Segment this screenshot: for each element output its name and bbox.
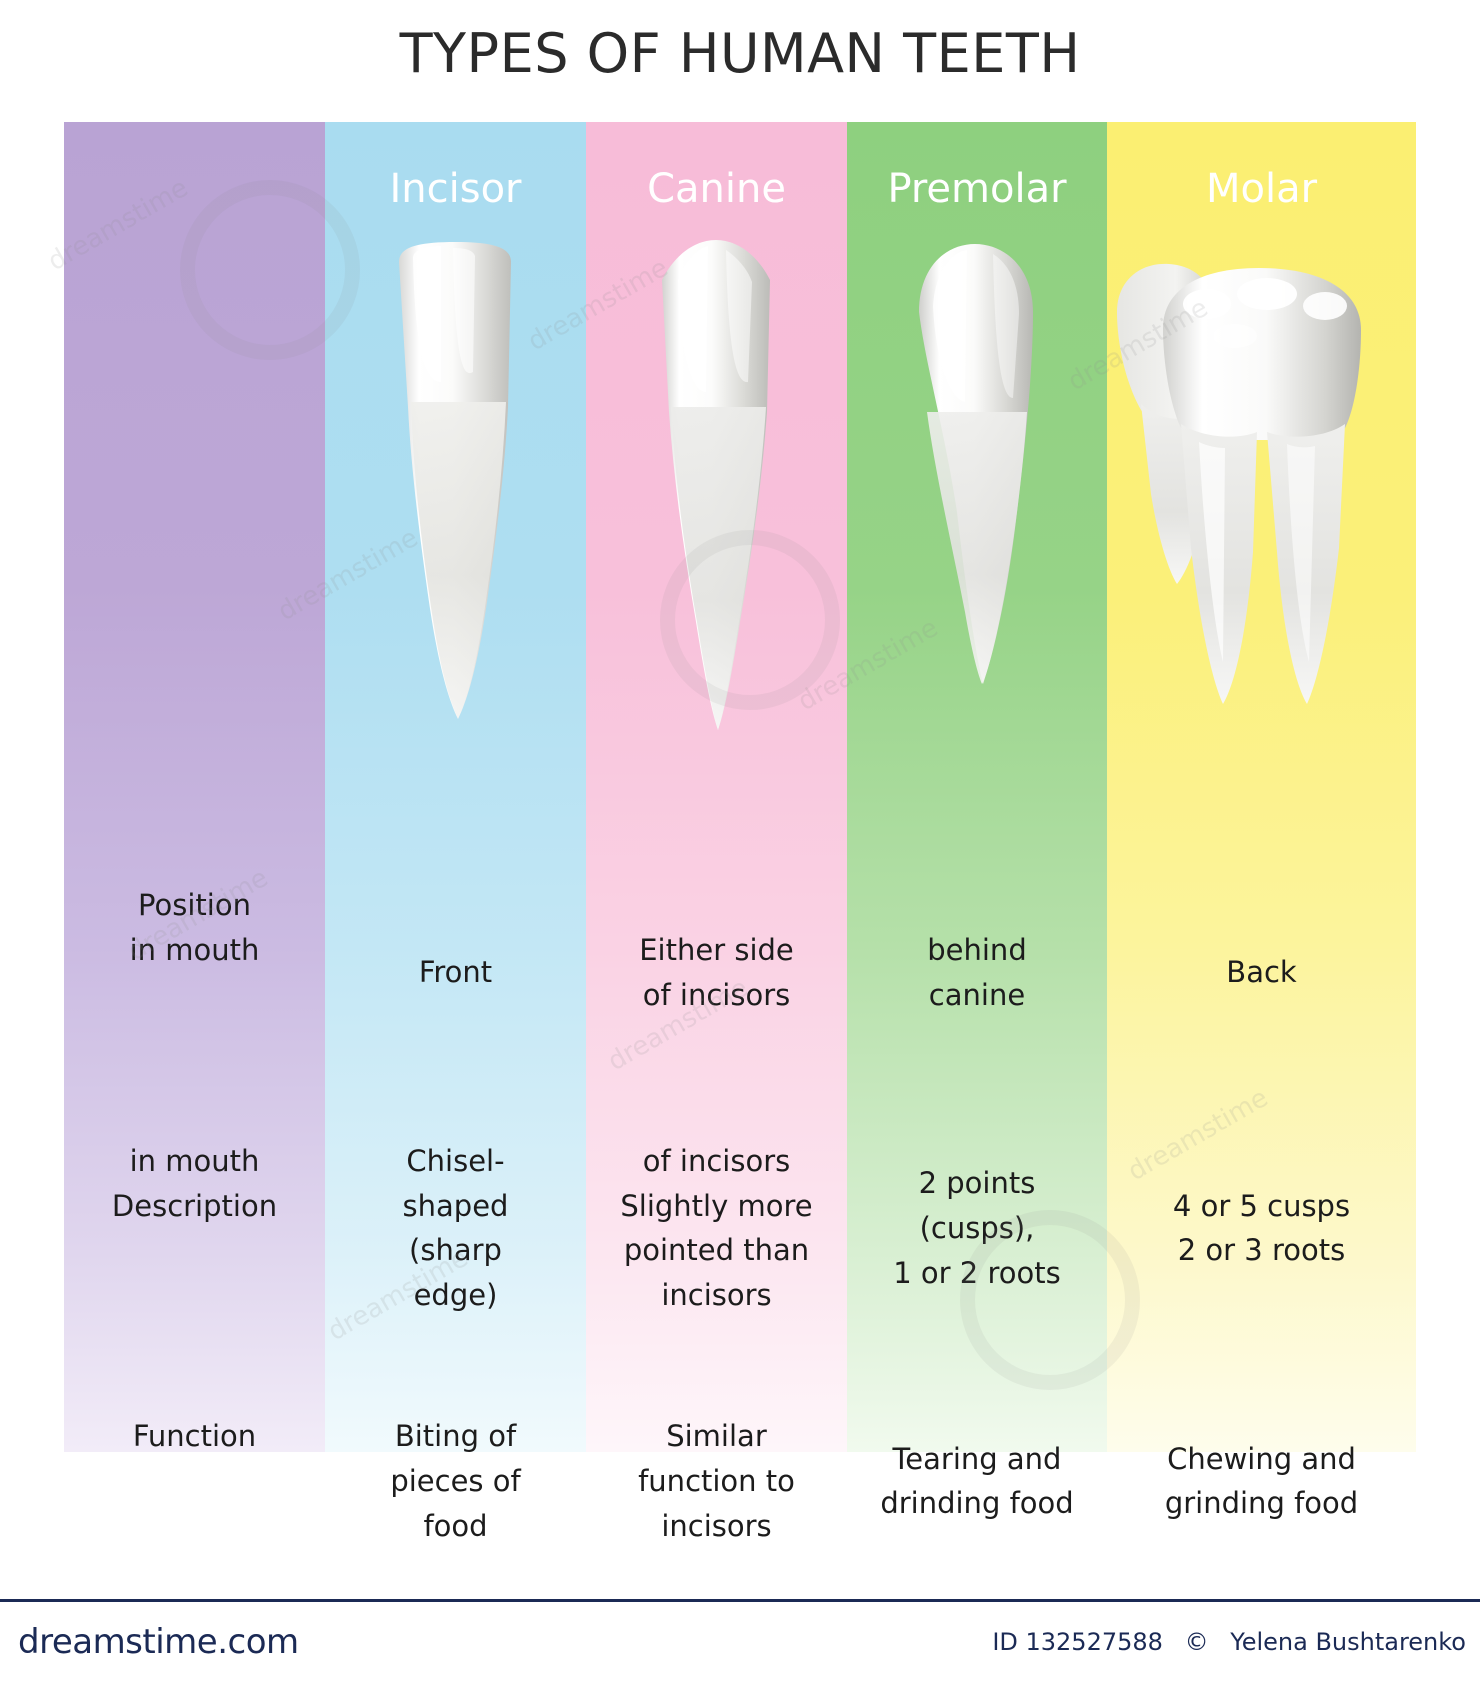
row-label-position: Position in mouth xyxy=(64,800,325,1056)
footer-credits: ID 132527588 © Yelena Bushtarenko xyxy=(978,1628,1466,1656)
type-label-incisor: Incisor xyxy=(325,166,586,212)
premolar-tooth-illustration xyxy=(847,232,1107,752)
cell-incisor-description: Chisel- shaped (sharp edge) xyxy=(325,1056,586,1311)
type-label-premolar: Premolar xyxy=(847,166,1107,212)
footer-bar: dreamstime.com ID 132527588 © Yelena Bus… xyxy=(0,1599,1480,1690)
type-label-canine: Canine xyxy=(586,166,847,212)
teeth-comparison-table: Position in mouth in mouth Description F… xyxy=(64,122,1416,1452)
row-label-function: Function xyxy=(64,1311,325,1562)
image-id: ID 132527588 xyxy=(992,1628,1163,1656)
cell-canine-position: Either side of incisors xyxy=(586,800,847,1056)
table-column-molar: Molar xyxy=(1107,122,1416,1452)
cell-canine-description: of incisors Slightly more pointed than i… xyxy=(586,1056,847,1311)
incisor-tooth-illustration xyxy=(325,232,586,752)
table-column-incisor: Incisor xyxy=(325,122,586,1452)
cell-premolar-function: Tearing and drinding food xyxy=(847,1311,1107,1562)
copyright-icon: © xyxy=(1185,1628,1209,1656)
dreamstime-logo-text: dreamstime.com xyxy=(18,1622,299,1662)
cell-incisor-function: Biting of pieces of food xyxy=(325,1311,586,1562)
cell-premolar-position: behind canine xyxy=(847,800,1107,1056)
cell-incisor-position: Front xyxy=(325,800,586,1056)
canine-tooth-illustration xyxy=(586,232,847,752)
row-label-description: in mouth Description xyxy=(64,1056,325,1311)
table-column-labels: Position in mouth in mouth Description F… xyxy=(64,122,325,1452)
table-column-canine: Canine xyxy=(586,122,847,1452)
cell-molar-function: Chewing and grinding food xyxy=(1107,1311,1416,1562)
cell-canine-function: Similar function to incisors xyxy=(586,1311,847,1562)
table-column-premolar: Premolar xyxy=(847,122,1107,1452)
cell-premolar-description: 2 points (cusps), 1 or 2 roots xyxy=(847,1056,1107,1311)
cell-molar-position: Back xyxy=(1107,800,1416,1056)
molar-tooth-illustration xyxy=(1107,232,1416,752)
cell-molar-description: 4 or 5 cusps 2 or 3 roots xyxy=(1107,1056,1416,1311)
dreamstime-logo[interactable]: dreamstime.com xyxy=(18,1622,299,1662)
type-label-molar: Molar xyxy=(1107,166,1416,212)
page-title: TYPES OF HUMAN TEETH xyxy=(0,22,1480,85)
author-name: Yelena Bushtarenko xyxy=(1230,1628,1466,1656)
